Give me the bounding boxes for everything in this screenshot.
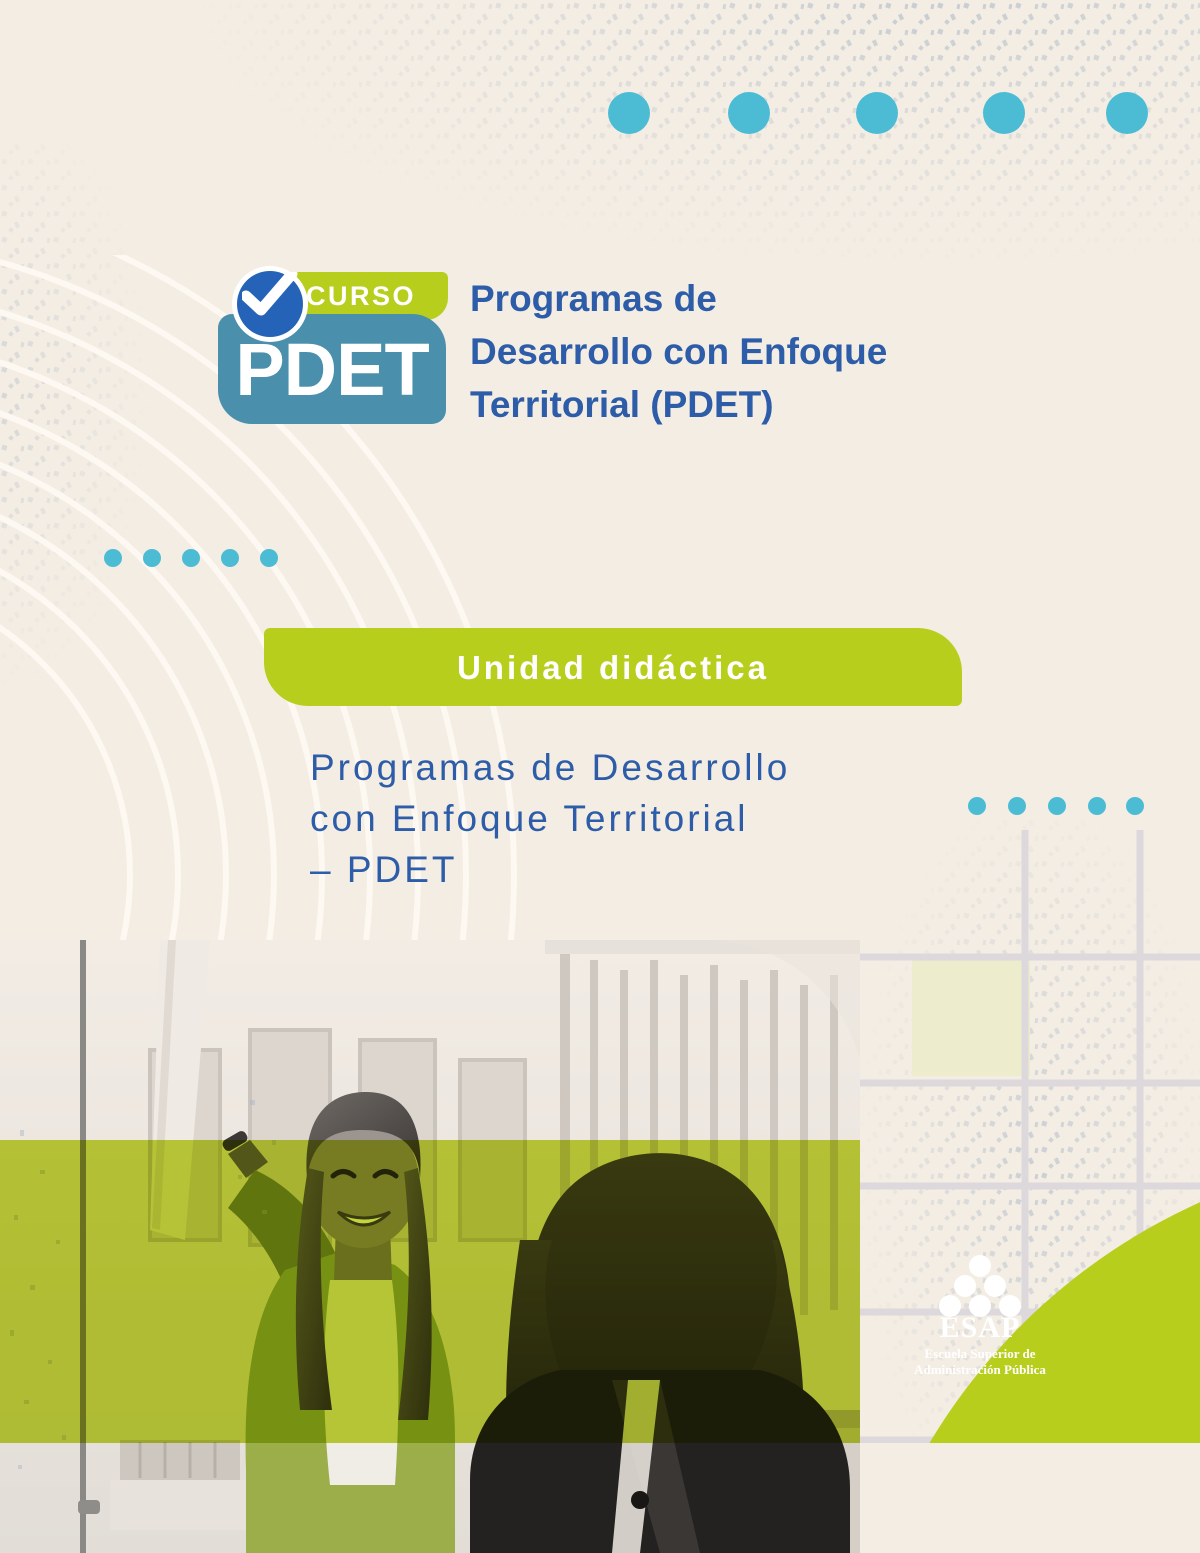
course-cover-page: CURSO PDET Programas de Desarrollo con E…: [0, 0, 1200, 1553]
cyan-dot: [1126, 797, 1144, 815]
pdet-course-logo: CURSO PDET: [218, 270, 448, 440]
right-dots-row: [968, 797, 1144, 815]
cyan-dot: [143, 549, 161, 567]
cyan-dot: [856, 92, 898, 134]
unit-banner-label: Unidad didáctica: [264, 649, 962, 687]
cyan-dot: [260, 549, 278, 567]
green-quarter-clip: [845, 1443, 1200, 1553]
esap-logo: ESAP Escuela Superior de Administración …: [880, 1255, 1080, 1390]
cyan-dot: [1088, 797, 1106, 815]
cyan-dot: [1008, 797, 1026, 815]
cyan-dot: [221, 549, 239, 567]
cyan-dot: [968, 797, 986, 815]
unit-banner: Unidad didáctica: [264, 628, 962, 706]
cyan-dot: [1048, 797, 1066, 815]
cyan-dot: [104, 549, 122, 567]
cyan-dot: [182, 549, 200, 567]
check-icon: [232, 266, 308, 342]
esap-acronym: ESAP: [880, 1313, 1080, 1343]
top-dots-row: [608, 92, 1160, 134]
six-circles-pyramid-icon: [880, 1255, 1080, 1313]
esap-name-line-1: Escuela Superior de: [880, 1346, 1080, 1362]
cyan-dot: [608, 92, 650, 134]
cover-photo: [0, 940, 860, 1553]
cyan-dot: [728, 92, 770, 134]
esap-name-line-2: Administración Pública: [880, 1362, 1080, 1378]
page-title: Programas de Desarrollo con Enfoque Terr…: [470, 272, 1030, 431]
cyan-dot: [983, 92, 1025, 134]
photo-green-tint-overlay: [0, 1140, 860, 1443]
cyan-dot: [1106, 92, 1148, 134]
unit-subtitle: Programas de Desarrollo con Enfoque Terr…: [310, 742, 990, 895]
left-dots-row: [104, 549, 280, 567]
